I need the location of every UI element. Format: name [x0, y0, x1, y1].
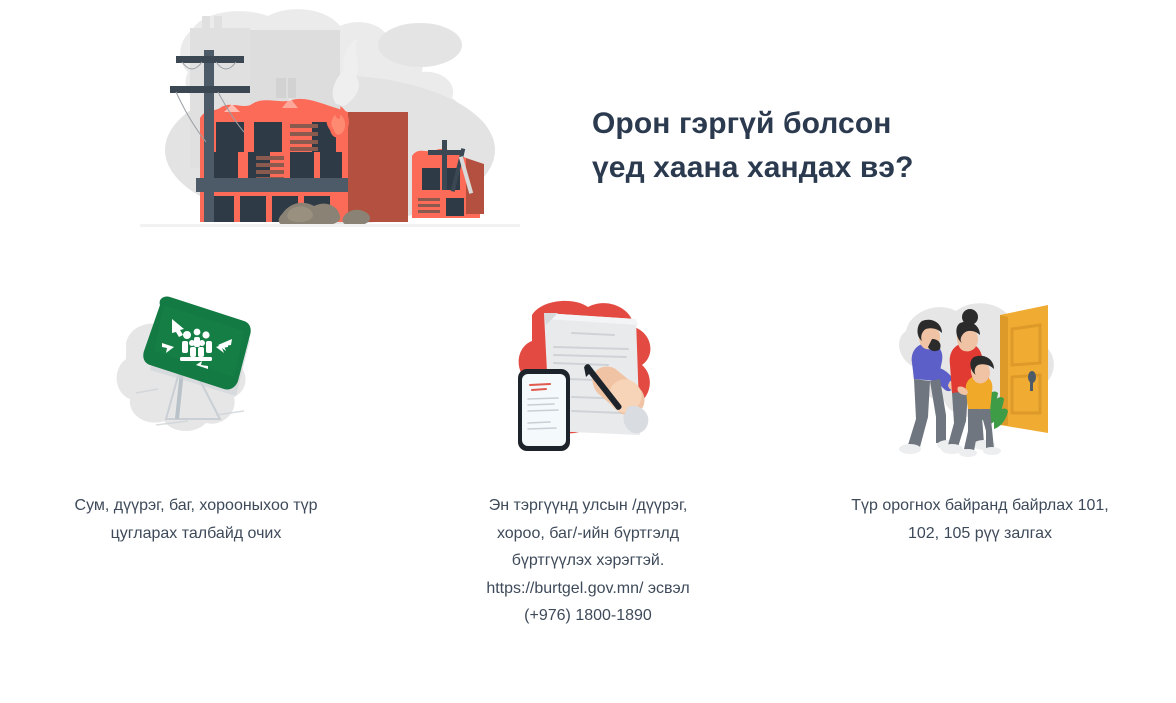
registration-document-writing-icon	[488, 285, 688, 470]
family-entering-door-icon	[880, 285, 1080, 470]
advice-column-3: Түр орогнох байранд байрлах 101, 102, 10…	[784, 285, 1176, 547]
hero-section: Орон гэргүй болсон үед хаана хандах вэ?	[0, 0, 1176, 268]
caption-line: хороо, баг/-ийн бүртгэлд	[423, 520, 753, 548]
registration-url-line[interactable]: https://burtgel.gov.mn/ эсвэл	[423, 575, 753, 603]
advice-columns: Сум, дүүрэг, баг, хорооныхоо түр цуглара…	[0, 285, 1176, 630]
page-title: Орон гэргүй болсон үед хаана хандах вэ?	[592, 102, 1062, 190]
caption-line: Түр орогнох байранд байрлах 101,	[815, 492, 1145, 520]
assembly-point-road-sign-icon	[96, 285, 296, 470]
caption-line: 102, 105 рүү залгах	[815, 520, 1145, 548]
caption-line: Сум, дүүрэг, баг, хорооныхоо түр	[31, 492, 361, 520]
advice-caption-3: Түр орогнох байранд байрлах 101, 102, 10…	[815, 492, 1145, 547]
advice-caption-2: Эн тэргүүнд улсын /дүүрэг, хороо, баг/-и…	[423, 492, 753, 630]
caption-line: Эн тэргүүнд улсын /дүүрэг,	[423, 492, 753, 520]
advice-column-2: Эн тэргүүнд улсын /дүүрэг, хороо, баг/-и…	[392, 285, 784, 630]
advice-caption-1: Сум, дүүрэг, баг, хорооныхоо түр цуглара…	[31, 492, 361, 547]
advice-column-1: Сум, дүүрэг, баг, хорооныхоо түр цуглара…	[0, 285, 392, 547]
page-title-line-1: Орон гэргүй болсон	[592, 102, 1062, 146]
registration-phone-line[interactable]: (+976) 1800-1890	[423, 602, 753, 630]
damaged-burning-building-illustration	[140, 0, 520, 250]
page-title-line-2: үед хаана хандах вэ?	[592, 146, 1062, 190]
caption-line: цугларах талбайд очих	[31, 520, 361, 548]
page-root: Орон гэргүй болсон үед хаана хандах вэ?	[0, 0, 1176, 703]
caption-line: бүртгүүлэх хэрэгтэй.	[423, 547, 753, 575]
